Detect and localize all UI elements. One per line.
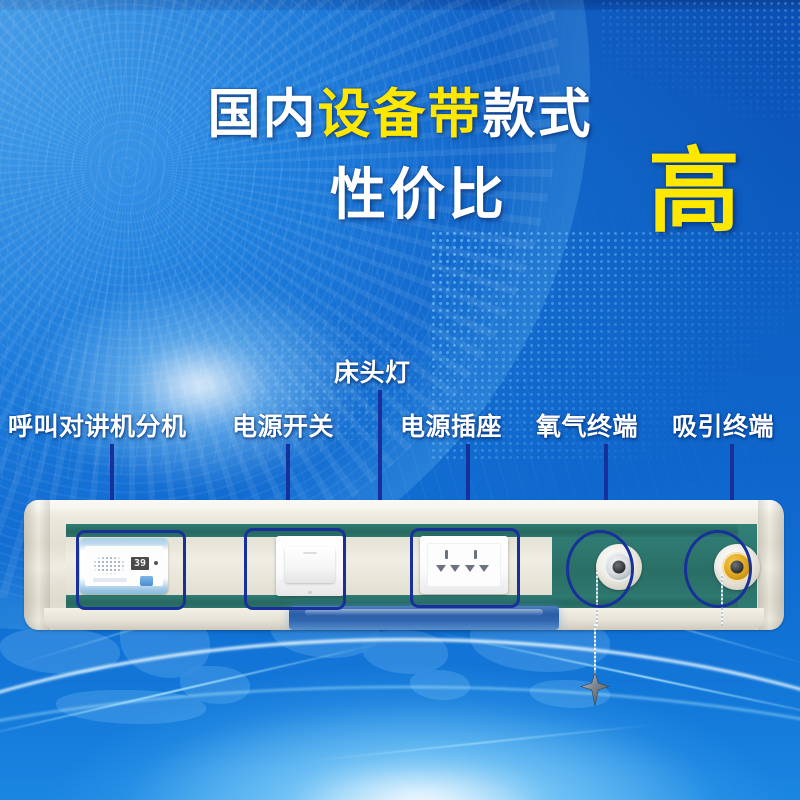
nurse-call-intercom[interactable]: 39 xyxy=(80,538,168,594)
outlet-faceplate xyxy=(427,543,501,587)
callout-layer: 呼叫对讲机分机 电源开关 床头灯 电源插座 氧气终端 吸引终端 xyxy=(0,0,800,800)
indicator-led-icon xyxy=(154,561,158,565)
callout-label-power-outlet: 电源插座 xyxy=(400,414,502,439)
cross-handle-icon xyxy=(580,672,610,706)
callout-label-intercom: 呼叫对讲机分机 xyxy=(8,414,187,439)
outlet-prong-b-left xyxy=(465,565,475,572)
bed-lamp-strip[interactable] xyxy=(289,606,559,630)
oxygen-hose-cord xyxy=(596,572,598,626)
switch-rocker[interactable] xyxy=(285,547,335,583)
suction-terminal-ring xyxy=(722,552,752,582)
suction-hose-cord xyxy=(721,574,723,626)
callout-label-power-switch: 电源开关 xyxy=(232,414,334,439)
callout-label-oxygen: 氧气终端 xyxy=(536,414,638,439)
callout-label-suction: 吸引终端 xyxy=(672,414,774,439)
power-switch[interactable] xyxy=(276,536,344,596)
switch-mark xyxy=(303,552,317,554)
outlet-slot-a1 xyxy=(445,550,448,559)
intercom-display: 39 xyxy=(131,557,149,570)
outlet-slot-b1 xyxy=(474,550,477,559)
intercom-mic-slot xyxy=(93,578,127,582)
panel-stripe-top xyxy=(66,524,738,537)
speaker-grill-icon xyxy=(93,556,125,574)
product-banner: 国内设备带款式 性价比 高 呼叫对讲机分机 电源开关 床头灯 电源插座 氧气终端… xyxy=(0,0,800,800)
pull-cord-handle[interactable] xyxy=(580,672,610,706)
medical-equipment-panel: 39 xyxy=(24,500,784,630)
outlet-prong-a-right xyxy=(450,565,460,572)
oxygen-terminal-port xyxy=(613,561,626,574)
oxygen-terminal[interactable] xyxy=(596,544,642,590)
oxygen-terminal-ring xyxy=(604,552,634,582)
intercom-call-button[interactable] xyxy=(140,576,153,586)
intercom-faceplate: 39 xyxy=(85,546,163,586)
switch-screw-icon xyxy=(308,591,312,594)
panel-body: 39 xyxy=(24,500,784,630)
power-outlet[interactable] xyxy=(420,536,508,594)
outlet-prong-b-right xyxy=(479,565,489,572)
suction-terminal-port xyxy=(731,561,744,574)
outlet-prong-a-left xyxy=(436,565,446,572)
callout-label-bed-lamp: 床头灯 xyxy=(334,360,411,385)
